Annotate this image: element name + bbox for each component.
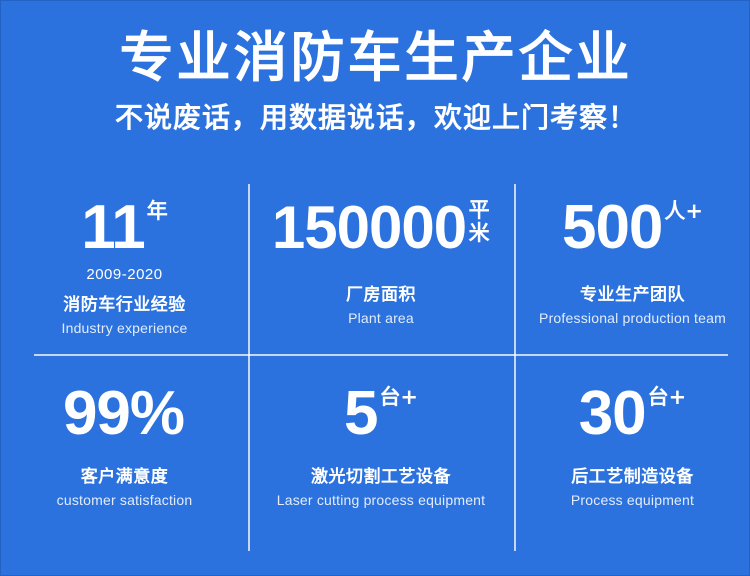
promo-banner: 专业消防车生产企业 不说废话，用数据说话，欢迎上门考察！ 11 年 2009-2… <box>0 0 750 576</box>
stat-unit: 台+ <box>379 386 418 408</box>
stat-label-en: Laser cutting process equipment <box>277 491 486 509</box>
stat-number: 500 <box>562 196 662 260</box>
stat-label-cn: 后工艺制造设备 <box>571 466 694 488</box>
stat-value-line: 500 人+ <box>562 196 703 260</box>
stat-label-en: Plant area <box>348 309 414 327</box>
stat-cell-process-equipment: 30 台+ 后工艺制造设备 Process equipment <box>514 354 750 551</box>
stat-value-line: 11 年 <box>81 196 168 260</box>
stat-value-line: 30 台+ <box>579 382 687 446</box>
page-title: 专业消防车生产企业 <box>1 1 750 89</box>
stat-cell-industry-experience: 11 年 2009-2020 消防车行业经验 Industry experien… <box>1 184 248 354</box>
stat-label-en: customer satisfaction <box>57 491 193 509</box>
stat-cell-customer-satisfaction: 99% 客户满意度 customer satisfaction <box>1 354 248 551</box>
stat-label-cn: 客户满意度 <box>81 466 169 488</box>
stat-label-en: Industry experience <box>62 319 188 337</box>
stat-number: 5 <box>344 382 377 446</box>
banner-header: 专业消防车生产企业 不说废话，用数据说话，欢迎上门考察！ <box>1 1 750 135</box>
stat-unit: 平米 <box>468 199 490 245</box>
stat-number: 11 <box>81 196 145 260</box>
stat-label-cn: 消防车行业经验 <box>63 294 186 316</box>
stat-label-cn: 厂房面积 <box>346 284 416 306</box>
page-subtitle: 不说废话，用数据说话，欢迎上门考察！ <box>1 89 750 135</box>
stat-value-line: 99% <box>63 382 186 446</box>
stat-cell-production-team: 500 人+ 专业生产团队 Professional production te… <box>514 184 750 354</box>
stat-range: 2009-2020 <box>86 266 162 284</box>
stat-number: 30 <box>579 382 646 446</box>
stat-label-cn: 激光切割工艺设备 <box>311 466 451 488</box>
stat-unit: 年 <box>147 200 168 222</box>
stat-cell-plant-area: 150000 平米 厂房面积 Plant area <box>248 184 514 354</box>
stats-grid: 11 年 2009-2020 消防车行业经验 Industry experien… <box>1 184 750 551</box>
stat-label-en: Professional production team <box>539 309 726 327</box>
stat-label-cn: 专业生产团队 <box>580 284 685 306</box>
stat-unit: 人+ <box>664 200 703 222</box>
stat-value-line: 150000 平米 <box>272 196 490 260</box>
stat-number: 99% <box>63 382 184 446</box>
stat-value-line: 5 台+ <box>344 382 418 446</box>
stat-label-en: Process equipment <box>571 491 694 509</box>
stat-unit: 台+ <box>648 386 687 408</box>
stat-number: 150000 <box>272 196 466 260</box>
stat-cell-laser-cutting-equipment: 5 台+ 激光切割工艺设备 Laser cutting process equi… <box>248 354 514 551</box>
